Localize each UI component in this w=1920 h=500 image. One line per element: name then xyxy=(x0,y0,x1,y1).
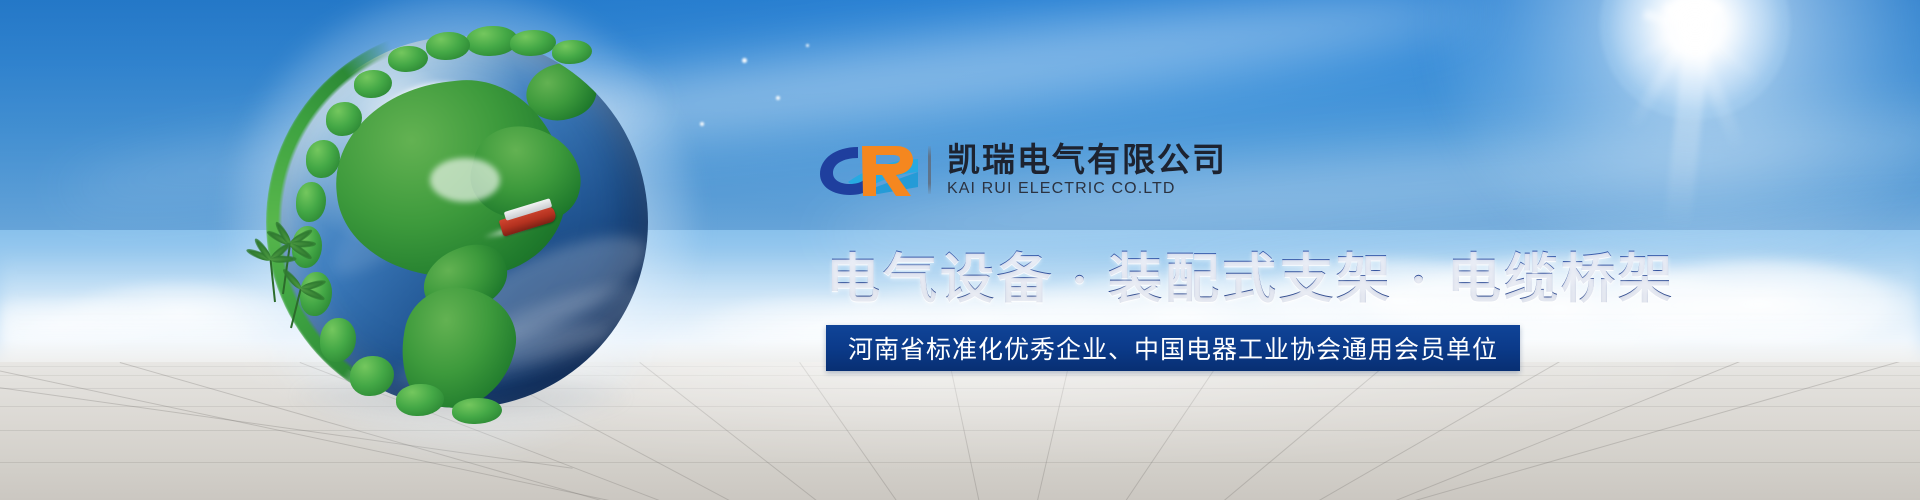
sparkle-icon xyxy=(776,96,780,100)
sparkle-icon xyxy=(742,58,747,63)
company-name-en: KAI RUI ELECTRIC CO.LTD xyxy=(947,179,1227,199)
brand-divider xyxy=(928,146,931,194)
brand-lockup: 凯瑞电气有限公司 KAI RUI ELECTRIC CO.LTD xyxy=(818,142,1227,198)
credentials-ribbon-text: 河南省标准化优秀企业、中国电器工业协会通用会员单位 xyxy=(848,330,1498,366)
sparkle-icon xyxy=(806,44,809,47)
green-earth-globe xyxy=(276,36,648,408)
cr-monogram-logo xyxy=(818,142,922,198)
brand-names: 凯瑞电气有限公司 KAI RUI ELECTRIC CO.LTD xyxy=(947,141,1227,199)
hero-banner: 凯瑞电气有限公司 KAI RUI ELECTRIC CO.LTD 电气设备 · … xyxy=(0,0,1920,500)
company-name-cn: 凯瑞电气有限公司 xyxy=(947,141,1227,179)
credentials-ribbon: 河南省标准化优秀企业、中国电器工业协会通用会员单位 xyxy=(826,325,1520,371)
tree-rim xyxy=(266,26,658,418)
banner-headline: 电气设备 · 装配式支架 · 电缆桥架 xyxy=(826,234,1675,313)
sparkle-icon xyxy=(700,122,704,126)
